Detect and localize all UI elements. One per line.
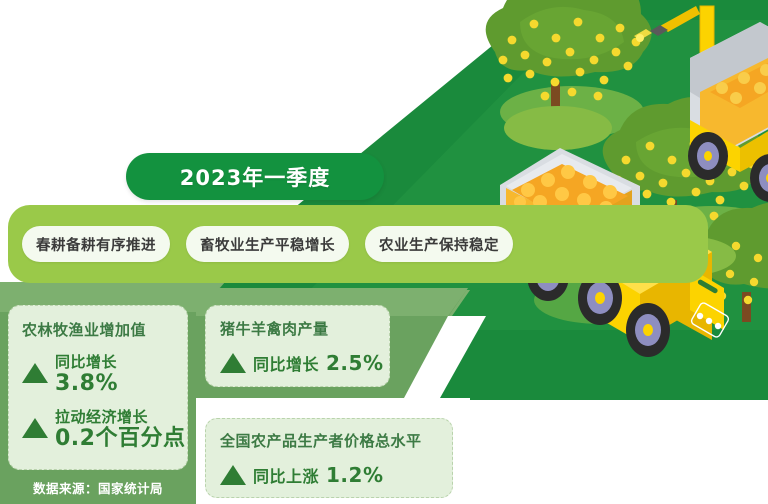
up-triangle-icon xyxy=(220,353,246,373)
up-triangle-icon xyxy=(22,418,48,438)
pill-spring-farming: 春耕备耕有序推进 xyxy=(22,226,170,262)
metric-value: 0.2个百分点 xyxy=(55,427,185,450)
card-agri-value-added: 农林牧渔业增加值 同比增长 3.8% 拉动经济增长 0.2个百分点 xyxy=(8,305,188,470)
pill-livestock: 畜牧业生产平稳增长 xyxy=(186,226,349,262)
metric-label: 同比上涨 xyxy=(253,463,319,487)
metric-label: 拉动经济增长 xyxy=(55,406,185,427)
quarter-title-label: 2023年一季度 xyxy=(180,162,330,192)
metric-label: 同比增长 xyxy=(55,351,118,372)
pill-agri-stable-label: 农业生产保持稳定 xyxy=(379,234,499,255)
pill-agri-stable: 农业生产保持稳定 xyxy=(365,226,513,262)
data-source-label: 数据来源：国家统计局 xyxy=(33,478,163,497)
headline-banner-content: 春耕备耕有序推进 畜牧业生产平稳增长 农业生产保持稳定 xyxy=(8,205,708,283)
infographic-canvas: 2023年一季度 春耕备耕有序推进 畜牧业生产平稳增长 农业生产保持稳定 农林牧… xyxy=(0,0,768,504)
quarter-title-pill: 2023年一季度 xyxy=(126,153,384,200)
card-producer-price: 全国农产品生产者价格总水平 同比上涨 1.2% xyxy=(205,418,453,498)
card-agri-value-added-title: 农林牧渔业增加值 xyxy=(22,319,187,340)
metric-value: 2.5% xyxy=(326,353,383,374)
card-producer-price-title: 全国农产品生产者价格总水平 xyxy=(220,430,452,451)
metric-value: 1.2% xyxy=(326,465,383,486)
card-meat-output: 猪牛羊禽肉产量 同比增长 2.5% xyxy=(205,305,390,387)
metric-label: 同比增长 xyxy=(253,351,319,375)
pill-spring-farming-label: 春耕备耕有序推进 xyxy=(36,234,156,255)
up-triangle-icon xyxy=(220,465,246,485)
data-source: 数据来源：国家统计局 xyxy=(8,473,188,501)
pill-livestock-label: 畜牧业生产平稳增长 xyxy=(200,234,335,255)
metric-value: 3.8% xyxy=(55,372,118,395)
up-triangle-icon xyxy=(22,363,48,383)
bush-1 xyxy=(504,106,612,150)
card-meat-output-title: 猪牛羊禽肉产量 xyxy=(220,318,389,339)
